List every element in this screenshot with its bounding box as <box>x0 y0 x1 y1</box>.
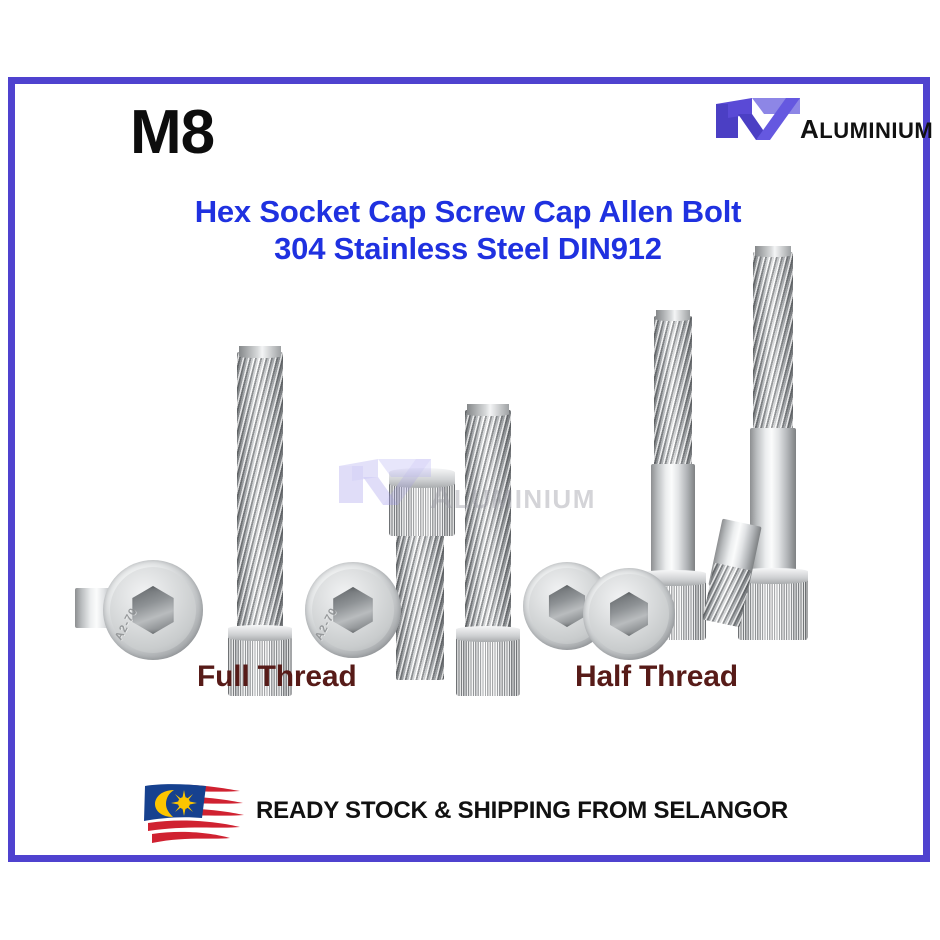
bolt-thread <box>654 316 692 468</box>
half-thread-label: Half Thread <box>575 660 738 694</box>
fv-monogram-icon <box>708 92 808 144</box>
full-thread-label: Full Thread <box>197 660 356 694</box>
bolt-tip <box>239 346 281 358</box>
bolt-tip <box>467 404 509 416</box>
shipping-banner: READY STOCK & SHIPPING FROM SELANGOR <box>140 775 840 853</box>
bolt-head-face <box>583 568 675 660</box>
product-listing-image: M8 Hex Socket Cap Screw Cap Allen Bolt 3… <box>0 0 940 940</box>
bolt-head-top <box>456 626 520 642</box>
brand-word-cap: A <box>800 114 819 144</box>
bolt-head-top <box>228 625 292 641</box>
bolt-tip <box>656 310 690 321</box>
bolt-thread <box>396 530 444 680</box>
size-code-heading: M8 <box>130 102 214 164</box>
bolt-tip <box>755 246 791 257</box>
malaysia-flag-icon <box>140 777 245 845</box>
watermark-word-rest: LUMINIUM <box>454 484 596 514</box>
watermark-wordmark: ALUMINIUM <box>430 480 596 516</box>
brand-wordmark: ALUMINIUM <box>800 114 933 145</box>
brand-word-rest: LUMINIUM <box>819 118 933 143</box>
bolt-head-face: A2-70 <box>103 560 203 660</box>
bolt-head-face: A2-70 <box>305 562 401 658</box>
brand-logo: ALUMINIUM <box>708 90 928 160</box>
bolt-thread <box>753 252 793 432</box>
ready-stock-text: READY STOCK & SHIPPING FROM SELANGOR <box>256 797 788 825</box>
fv-monogram-watermark-icon <box>330 452 440 510</box>
watermark-logo: ALUMINIUM <box>330 452 660 542</box>
bolt-plain-shank <box>750 428 796 580</box>
watermark-word-cap: A <box>430 480 454 515</box>
bolt-thread <box>237 352 283 640</box>
product-photo: A2-70 A2-70 <box>15 230 923 670</box>
product-title-line-1: Hex Socket Cap Screw Cap Allen Bolt <box>68 194 868 231</box>
